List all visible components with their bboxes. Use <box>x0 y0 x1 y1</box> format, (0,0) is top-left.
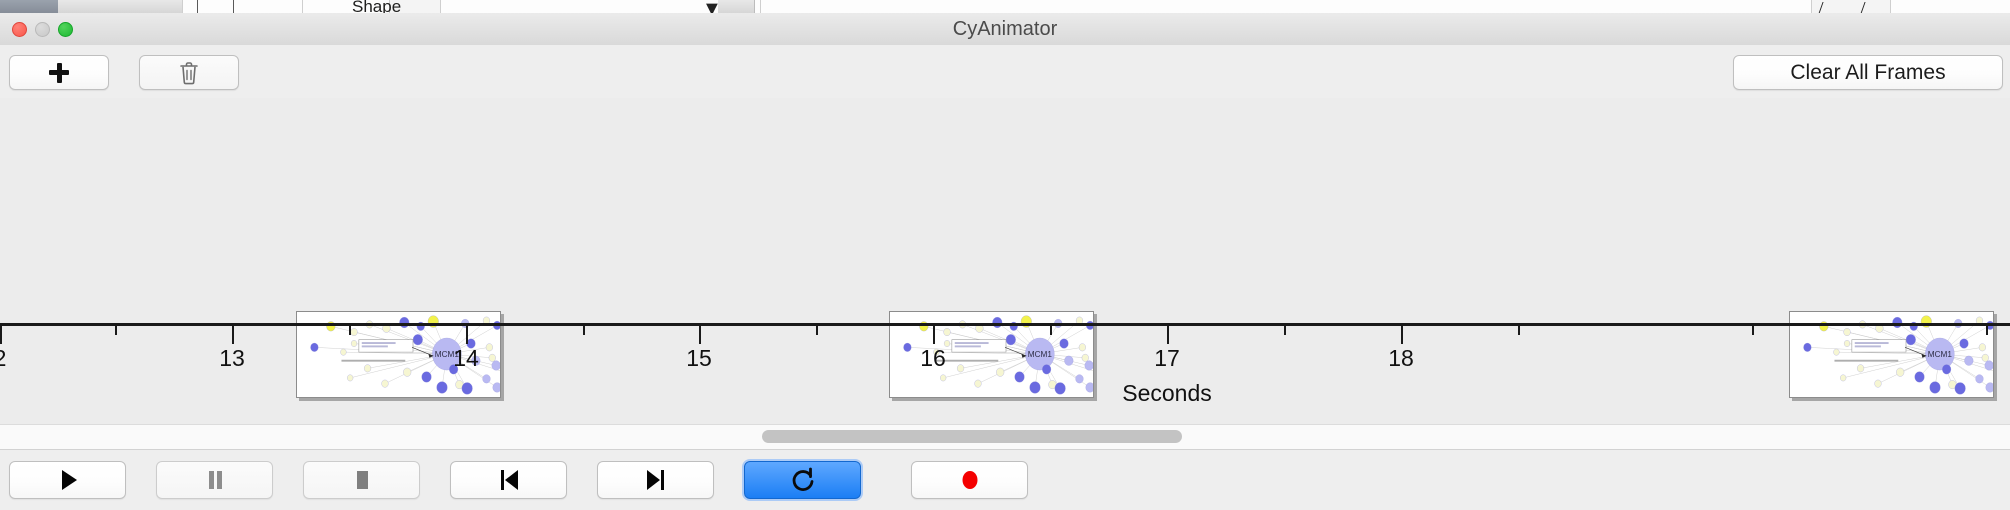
axis-tick-major <box>699 326 701 344</box>
play-button[interactable] <box>9 461 126 499</box>
background-panel <box>182 0 304 13</box>
axis-tick-major <box>933 326 935 344</box>
axis-tick-major <box>0 326 2 344</box>
background-glyph: / <box>1860 0 1866 13</box>
axis-line <box>0 323 2010 326</box>
background-panel <box>760 0 1812 13</box>
axis-tick-label: 13 <box>219 345 245 372</box>
add-frame-button[interactable] <box>9 55 109 90</box>
cyanimator-window: CyAnimator Clear All Frames <box>0 13 2010 510</box>
trash-icon <box>178 61 200 85</box>
background-panel <box>1890 0 2010 13</box>
axis-tick-major <box>1401 326 1403 344</box>
plus-icon <box>49 63 69 83</box>
skip-to-start-button[interactable] <box>450 461 567 499</box>
window-titlebar: CyAnimator <box>0 13 2010 46</box>
axis-tick-minor <box>1050 326 1052 335</box>
loop-button[interactable] <box>744 461 861 499</box>
axis-tick-label: 16 <box>920 345 946 372</box>
axis-tick-major <box>466 326 468 344</box>
axis-tick-label: 17 <box>1154 345 1180 372</box>
axis-tick-label: 14 <box>453 345 479 372</box>
clear-all-frames-button[interactable]: Clear All Frames <box>1733 55 2003 90</box>
axis-tick-minor <box>816 326 818 335</box>
axis-title: Seconds <box>1122 380 1212 407</box>
delete-frame-button[interactable] <box>139 55 239 90</box>
background-app-label: Shape <box>352 0 432 13</box>
axis-tick-label: 18 <box>1388 345 1414 372</box>
play-icon <box>55 467 81 493</box>
axis-tick-major <box>232 326 234 344</box>
axis-tick-minor <box>1284 326 1286 335</box>
cyanimator-screen: | | Shape ▼ / / CyAnimator <box>0 0 2010 510</box>
axis-tick-minor <box>1518 326 1520 335</box>
axis-tick-label: 15 <box>686 345 712 372</box>
background-glyph: / <box>1818 0 1824 13</box>
background-tab <box>58 0 141 13</box>
record-icon <box>957 467 983 493</box>
axis-tick-minor <box>1752 326 1754 335</box>
playback-controlbar: Animation Speed: <box>0 449 2010 510</box>
frame-toolbar: Clear All Frames <box>0 45 2010 99</box>
record-button[interactable] <box>911 461 1028 499</box>
background-glyph: | <box>232 0 235 13</box>
skip-forward-icon <box>643 467 669 493</box>
axis-tick-major <box>1167 326 1169 344</box>
timeline-scrollbar[interactable] <box>0 424 2010 450</box>
timeline-panel[interactable]: MCM1 MCM1 MCM1 2131415161718Seconds <box>0 98 2010 425</box>
scrollbar-thumb[interactable] <box>762 430 1182 443</box>
loop-icon <box>789 466 817 494</box>
skip-to-end-button[interactable] <box>597 461 714 499</box>
background-glyph: | <box>196 0 199 13</box>
window-title: CyAnimator <box>0 13 2010 45</box>
skip-back-icon <box>496 467 522 493</box>
stop-button <box>303 461 420 499</box>
background-app-strip: | | Shape ▼ / / <box>0 0 2010 13</box>
background-tab-selected <box>0 0 59 13</box>
clear-all-frames-label: Clear All Frames <box>1790 61 1945 85</box>
timeline-axis[interactable]: 2131415161718Seconds <box>0 323 2010 423</box>
axis-tick-minor <box>349 326 351 335</box>
axis-tick-label: 2 <box>0 345 6 372</box>
background-tab <box>718 0 755 13</box>
stop-icon <box>349 467 375 493</box>
axis-tick-minor <box>1986 326 1988 335</box>
axis-tick-minor <box>583 326 585 335</box>
axis-tick-minor <box>115 326 117 335</box>
pause-icon <box>202 467 228 493</box>
background-tab <box>140 0 183 13</box>
pause-button <box>156 461 273 499</box>
